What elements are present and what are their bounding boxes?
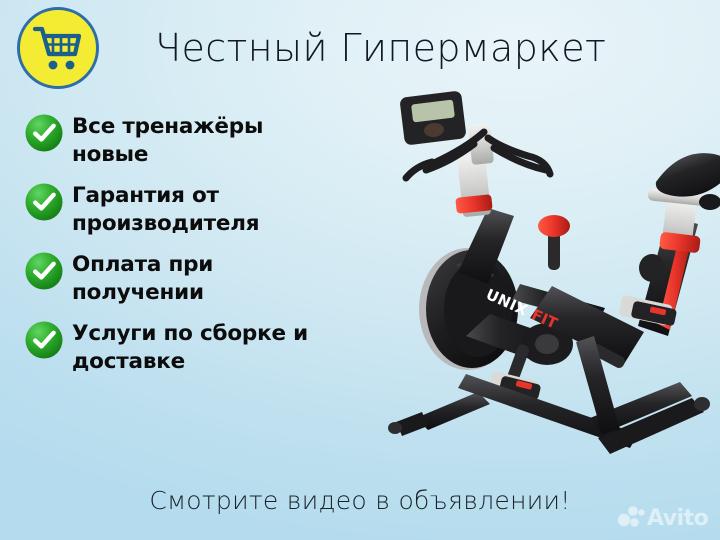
console-display	[399, 90, 466, 145]
product-image-spin-bike: UNIX FIT	[362, 86, 720, 472]
promo-banner: Честный Гипермаркет Все тренажё	[0, 0, 720, 540]
avito-watermark: Avito	[616, 503, 708, 529]
list-item: Услуги по сборке и доставке	[24, 319, 334, 376]
store-logo	[17, 7, 99, 89]
page-title: Честный Гипермаркет	[155, 17, 625, 79]
svg-text:Avito: Avito	[647, 506, 708, 529]
list-item-label: Гарантия от производителя	[72, 181, 334, 238]
list-item: Гарантия от производителя	[24, 181, 334, 238]
green-check-circle-icon	[24, 113, 64, 153]
saddle	[648, 153, 720, 210]
front-stabilizer	[388, 392, 490, 436]
green-check-circle-icon	[24, 182, 64, 222]
list-item: Оплата при получении	[24, 250, 334, 307]
shopping-cart-icon	[32, 24, 84, 72]
resistance-knob	[538, 215, 570, 270]
list-item-label: Все тренажёры новые	[72, 112, 334, 169]
list-item: Все тренажёры новые	[24, 112, 334, 169]
list-item-label: Оплата при получении	[72, 250, 334, 307]
footer-caption: Смотрите видео в объявлении!	[0, 486, 720, 515]
list-item-label: Услуги по сборке и доставке	[72, 319, 334, 376]
green-check-circle-icon	[24, 320, 64, 360]
banner-header: Честный Гипермаркет	[0, 0, 720, 96]
benefits-list: Все тренажёры новые Гарантия от производ…	[24, 112, 334, 376]
green-check-circle-icon	[24, 251, 64, 291]
